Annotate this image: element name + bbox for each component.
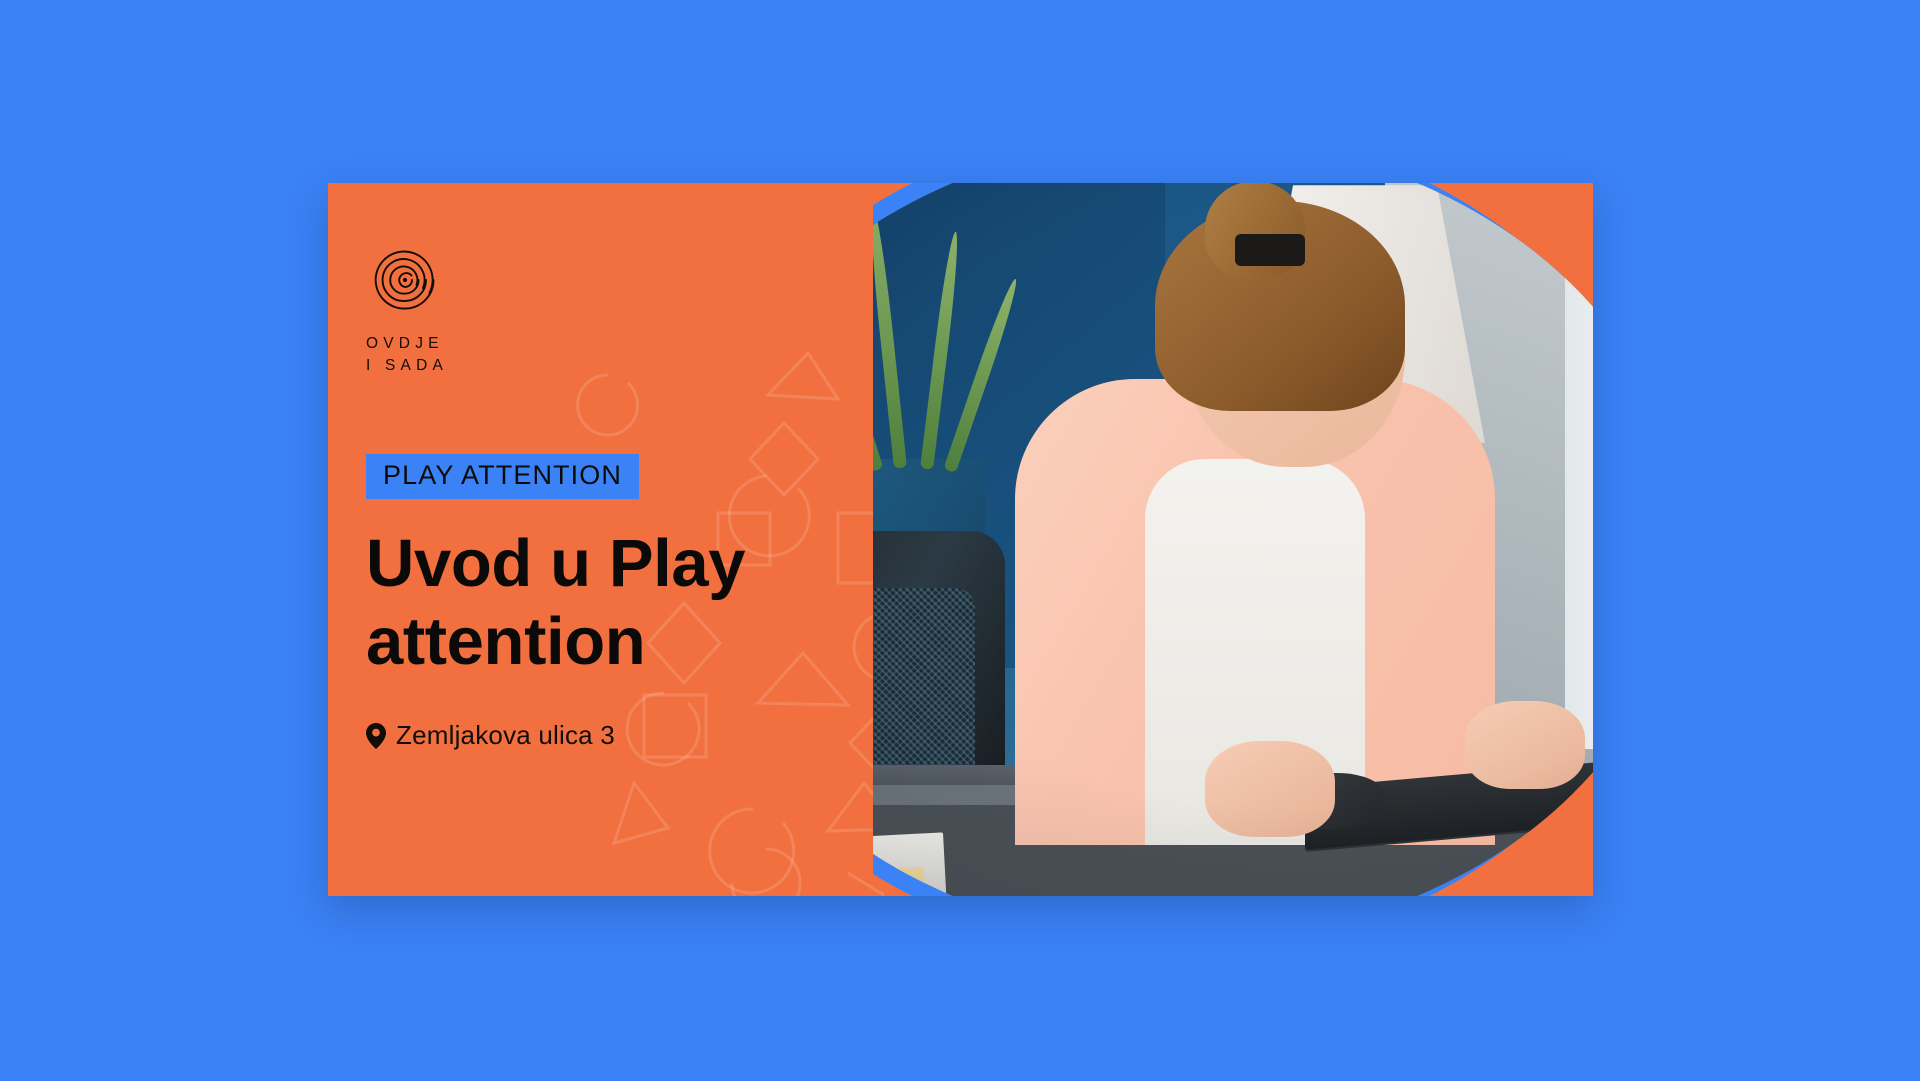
card-content: OVDJE I SADA PLAY ATTENTION Uvod u Play … <box>328 183 888 896</box>
photo-mask <box>873 183 1593 896</box>
hero-photo <box>873 183 1593 896</box>
location-row: Zemljakova ulica 3 <box>366 720 888 751</box>
concentric-spiral-rings-icon <box>366 241 444 319</box>
brand-wordmark-line1: OVDJE <box>366 333 888 355</box>
banner-card: OVDJE I SADA PLAY ATTENTION Uvod u Play … <box>328 183 1593 896</box>
map-pin-icon <box>366 723 386 749</box>
photo-vignette <box>873 183 1593 896</box>
photo-panel <box>873 183 1593 896</box>
brand-wordmark-line2: I SADA <box>366 355 888 377</box>
category-badge: PLAY ATTENTION <box>366 454 639 499</box>
brand-wordmark: OVDJE I SADA <box>366 333 888 378</box>
brand-logo: OVDJE I SADA <box>366 241 888 378</box>
location-address: Zemljakova ulica 3 <box>396 720 615 751</box>
page-title: Uvod u Play attention <box>366 525 836 680</box>
